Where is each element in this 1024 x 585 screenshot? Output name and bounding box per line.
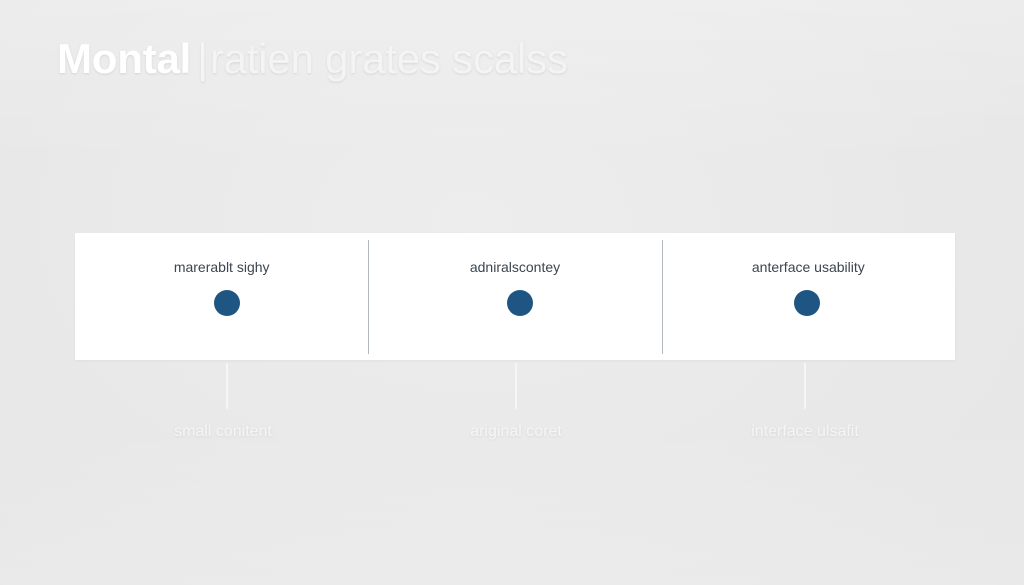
card-panel: marerablt sighy adniralscontey anterface…	[75, 233, 955, 360]
card-label: marerablt sighy	[75, 259, 368, 275]
page-title-light: ratien grates scalss	[210, 35, 568, 82]
blue-dot-icon	[507, 290, 533, 316]
blue-dot-icon	[214, 290, 240, 316]
card-item[interactable]: anterface usability	[662, 233, 955, 360]
caption-label: small conitent	[103, 423, 343, 441]
connector-line	[804, 363, 806, 409]
card-item[interactable]: adniralscontey	[368, 233, 661, 360]
connector-line	[226, 363, 228, 409]
card-label: adniralscontey	[368, 259, 661, 275]
caption-label: interface ulsafit	[685, 423, 925, 441]
card-item[interactable]: marerablt sighy	[75, 233, 368, 360]
caption-label: ariginal coret	[396, 423, 636, 441]
page-title-separator: |	[191, 35, 210, 82]
connector-line	[515, 363, 517, 409]
slide-canvas: Montal|ratien grates scalss marerablt si…	[0, 0, 1024, 585]
card-label: anterface usability	[662, 259, 955, 275]
page-title: Montal|ratien grates scalss	[57, 33, 568, 85]
page-title-bold: Montal	[57, 35, 191, 82]
blue-dot-icon	[794, 290, 820, 316]
